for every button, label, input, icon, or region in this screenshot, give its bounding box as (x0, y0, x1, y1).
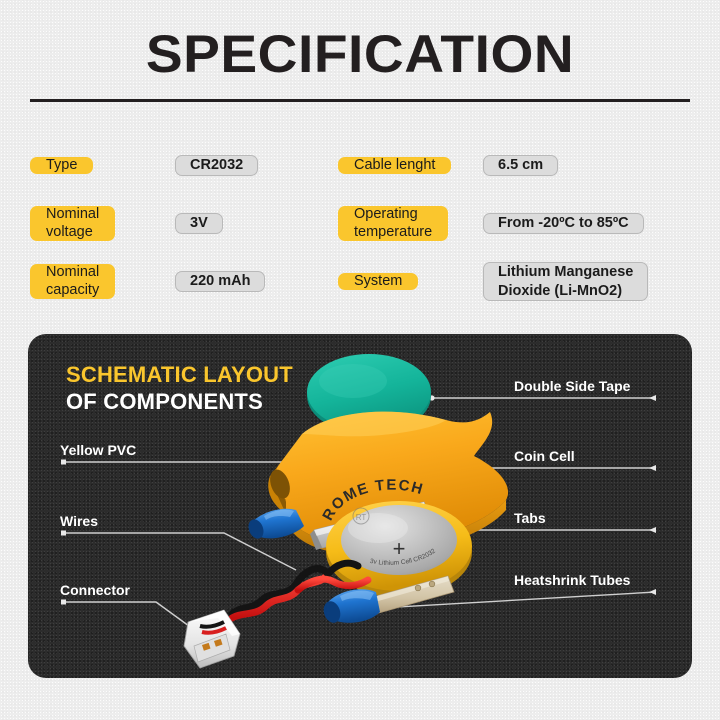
schematic-panel: SCHEMATIC LAYOUT OF COMPONENTS (28, 334, 692, 678)
spec-label-cell: Operating temperature (338, 199, 483, 248)
callout-double-side-tape: Double Side Tape (514, 378, 630, 394)
spec-value-cell: From -20ºC to 85ºC (483, 199, 672, 248)
spec-value-cable-length: 6.5 cm (483, 155, 558, 175)
spec-value-operating-temperature: From -20ºC to 85ºC (483, 213, 644, 233)
title-divider (30, 99, 690, 102)
spec-value-cell: CR2032 (175, 141, 310, 190)
callout-yellow-pvc: Yellow PVC (60, 442, 136, 458)
spec-value-cell: Lithium Manganese Dioxide (Li-MnO2) (483, 257, 672, 306)
spec-label-system: System (338, 273, 418, 290)
spec-label-nominal-capacity: Nominal capacity (30, 264, 115, 299)
spec-label-cell: System (338, 257, 483, 306)
spec-label-cell: Type (30, 141, 175, 190)
spec-label-cell: Nominal capacity (30, 257, 175, 306)
page-title-wrap: SPECIFICATION (0, 28, 720, 81)
spec-value-cell: 220 mAh (175, 257, 310, 306)
spec-label-operating-temperature: Operating temperature (338, 206, 448, 241)
spec-label-type: Type (30, 157, 93, 174)
spec-label-nominal-voltage: Nominal voltage (30, 206, 115, 241)
spec-value-type: CR2032 (175, 155, 258, 175)
spec-label-cable-length: Cable lenght (338, 157, 451, 174)
callout-heatshrink-tubes: Heatshrink Tubes (514, 572, 630, 588)
callout-coin-cell: Coin Cell (514, 448, 575, 464)
callout-tabs: Tabs (514, 510, 546, 526)
spec-label-cell: Nominal voltage (30, 199, 175, 248)
page-title: SPECIFICATION (0, 28, 720, 81)
svg-text:RT: RT (356, 513, 367, 522)
callout-wires: Wires (60, 513, 98, 529)
callout-connector: Connector (60, 582, 130, 598)
spec-value-nominal-capacity: 220 mAh (175, 271, 265, 291)
spec-value-cell: 3V (175, 199, 310, 248)
heatshrink-tube-upper-part (246, 509, 304, 541)
spec-value-system: Lithium Manganese Dioxide (Li-MnO2) (483, 262, 648, 300)
column-gap (310, 199, 338, 248)
column-gap (310, 257, 338, 306)
battery-polarity-text: + (393, 536, 406, 561)
heatshrink-tube-lower-part (321, 589, 380, 625)
spec-value-cell: 6.5 cm (483, 141, 672, 190)
spec-label-cell: Cable lenght (338, 141, 483, 190)
specification-table: Type CR2032 Cable lenght 6.5 cm Nominal … (30, 141, 692, 306)
spec-value-nominal-voltage: 3V (175, 213, 223, 233)
column-gap (310, 141, 338, 190)
